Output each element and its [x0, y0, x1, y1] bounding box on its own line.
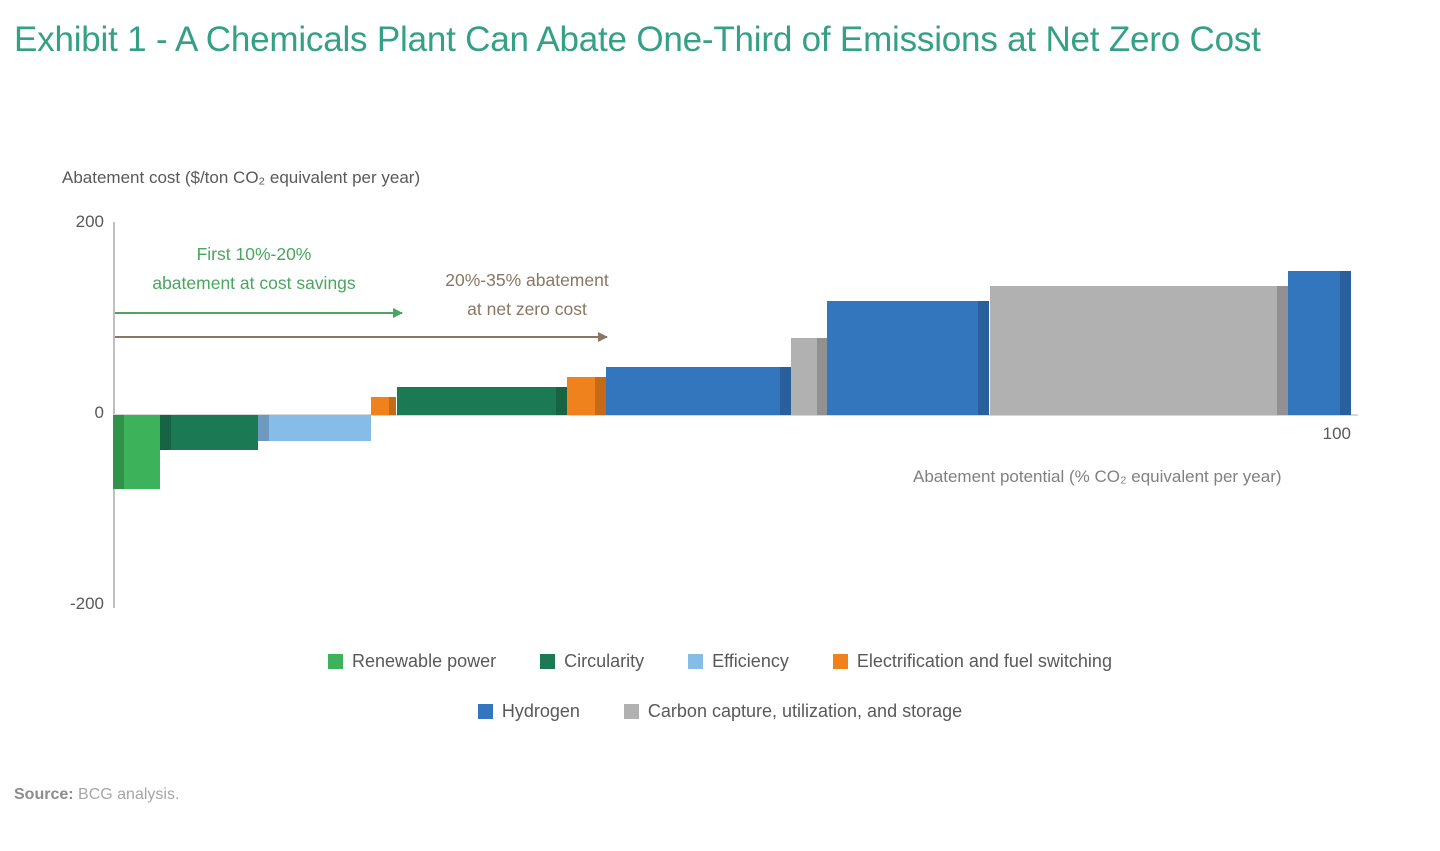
legend-item[interactable]: Hydrogen	[478, 701, 580, 722]
bar-5[interactable]	[397, 387, 568, 415]
legend-swatch-icon	[688, 654, 703, 669]
cost-savings-annotation: First 10%-20% abatement at cost savings	[120, 240, 388, 299]
x-axis-caption: Abatement potential (% CO₂ equivalent pe…	[913, 467, 1282, 487]
bar-shade	[1277, 286, 1288, 415]
legend-swatch-icon	[540, 654, 555, 669]
bar-2[interactable]	[160, 415, 258, 450]
legend-item-label: Hydrogen	[502, 701, 580, 722]
bar-shade	[1340, 271, 1351, 415]
bar-11[interactable]	[1288, 271, 1351, 415]
legend-item-label: Carbon capture, utilization, and storage	[648, 701, 962, 722]
bar-4[interactable]	[371, 397, 397, 415]
bar-face	[606, 367, 792, 415]
net-zero-arrow-icon	[115, 336, 607, 338]
bar-face	[827, 301, 989, 415]
exhibit-page: Exhibit 1 - A Chemicals Plant Can Abate …	[0, 0, 1440, 851]
legend-swatch-icon	[833, 654, 848, 669]
legend-item[interactable]: Efficiency	[688, 651, 789, 672]
bar-shade	[978, 301, 989, 415]
bar-shade	[160, 415, 171, 450]
bar-shade	[595, 377, 606, 415]
legend-item-label: Efficiency	[712, 651, 789, 672]
legend-item-label: Electrification and fuel switching	[857, 651, 1112, 672]
source-note: Source: BCG analysis.	[14, 786, 179, 804]
bar-shade	[113, 415, 124, 489]
legend-item-label: Circularity	[564, 651, 644, 672]
bar-shade	[258, 415, 269, 441]
page-title: Exhibit 1 - A Chemicals Plant Can Abate …	[14, 14, 1334, 65]
bar-face	[990, 286, 1288, 415]
bar-10[interactable]	[990, 286, 1288, 415]
legend-item[interactable]: Carbon capture, utilization, and storage	[624, 701, 962, 722]
arrow-head	[598, 332, 608, 342]
cost-savings-arrow-icon	[115, 312, 402, 314]
legend-row-secondary: HydrogenCarbon capture, utilization, and…	[0, 701, 1440, 722]
y-axis-tick: 200	[0, 212, 104, 232]
legend-row-primary: Renewable powerCircularityEfficiencyElec…	[0, 651, 1440, 672]
legend-item[interactable]: Electrification and fuel switching	[833, 651, 1112, 672]
bar-shade	[389, 397, 396, 415]
legend-item-label: Renewable power	[352, 651, 496, 672]
bar-shade	[780, 367, 791, 415]
bar-9[interactable]	[827, 301, 989, 415]
arrow-shaft	[115, 336, 607, 338]
bar-face	[258, 415, 371, 441]
arrow-shaft	[115, 312, 402, 314]
y-axis-caption: Abatement cost ($/ton CO₂ equivalent per…	[62, 168, 420, 188]
bar-7[interactable]	[606, 367, 792, 415]
y-axis-tick: -200	[0, 594, 104, 614]
x-axis-tick: 100	[1309, 424, 1351, 444]
bar-8[interactable]	[791, 338, 827, 415]
y-axis-tick: 0	[0, 403, 104, 423]
bar-face	[160, 415, 258, 450]
legend-item[interactable]: Renewable power	[328, 651, 496, 672]
bar-3[interactable]	[258, 415, 371, 441]
legend-swatch-icon	[624, 704, 639, 719]
bar-shade	[556, 387, 567, 415]
legend-swatch-icon	[478, 704, 493, 719]
source-text: BCG analysis.	[74, 786, 180, 803]
bar-6[interactable]	[567, 377, 605, 415]
net-zero-annotation: 20%-35% abatement at net zero cost	[400, 266, 654, 325]
legend-item[interactable]: Circularity	[540, 651, 644, 672]
bar-shade	[817, 338, 827, 415]
source-label: Source:	[14, 786, 74, 803]
legend-swatch-icon	[328, 654, 343, 669]
bar-1[interactable]	[113, 415, 160, 489]
bar-face	[397, 387, 568, 415]
